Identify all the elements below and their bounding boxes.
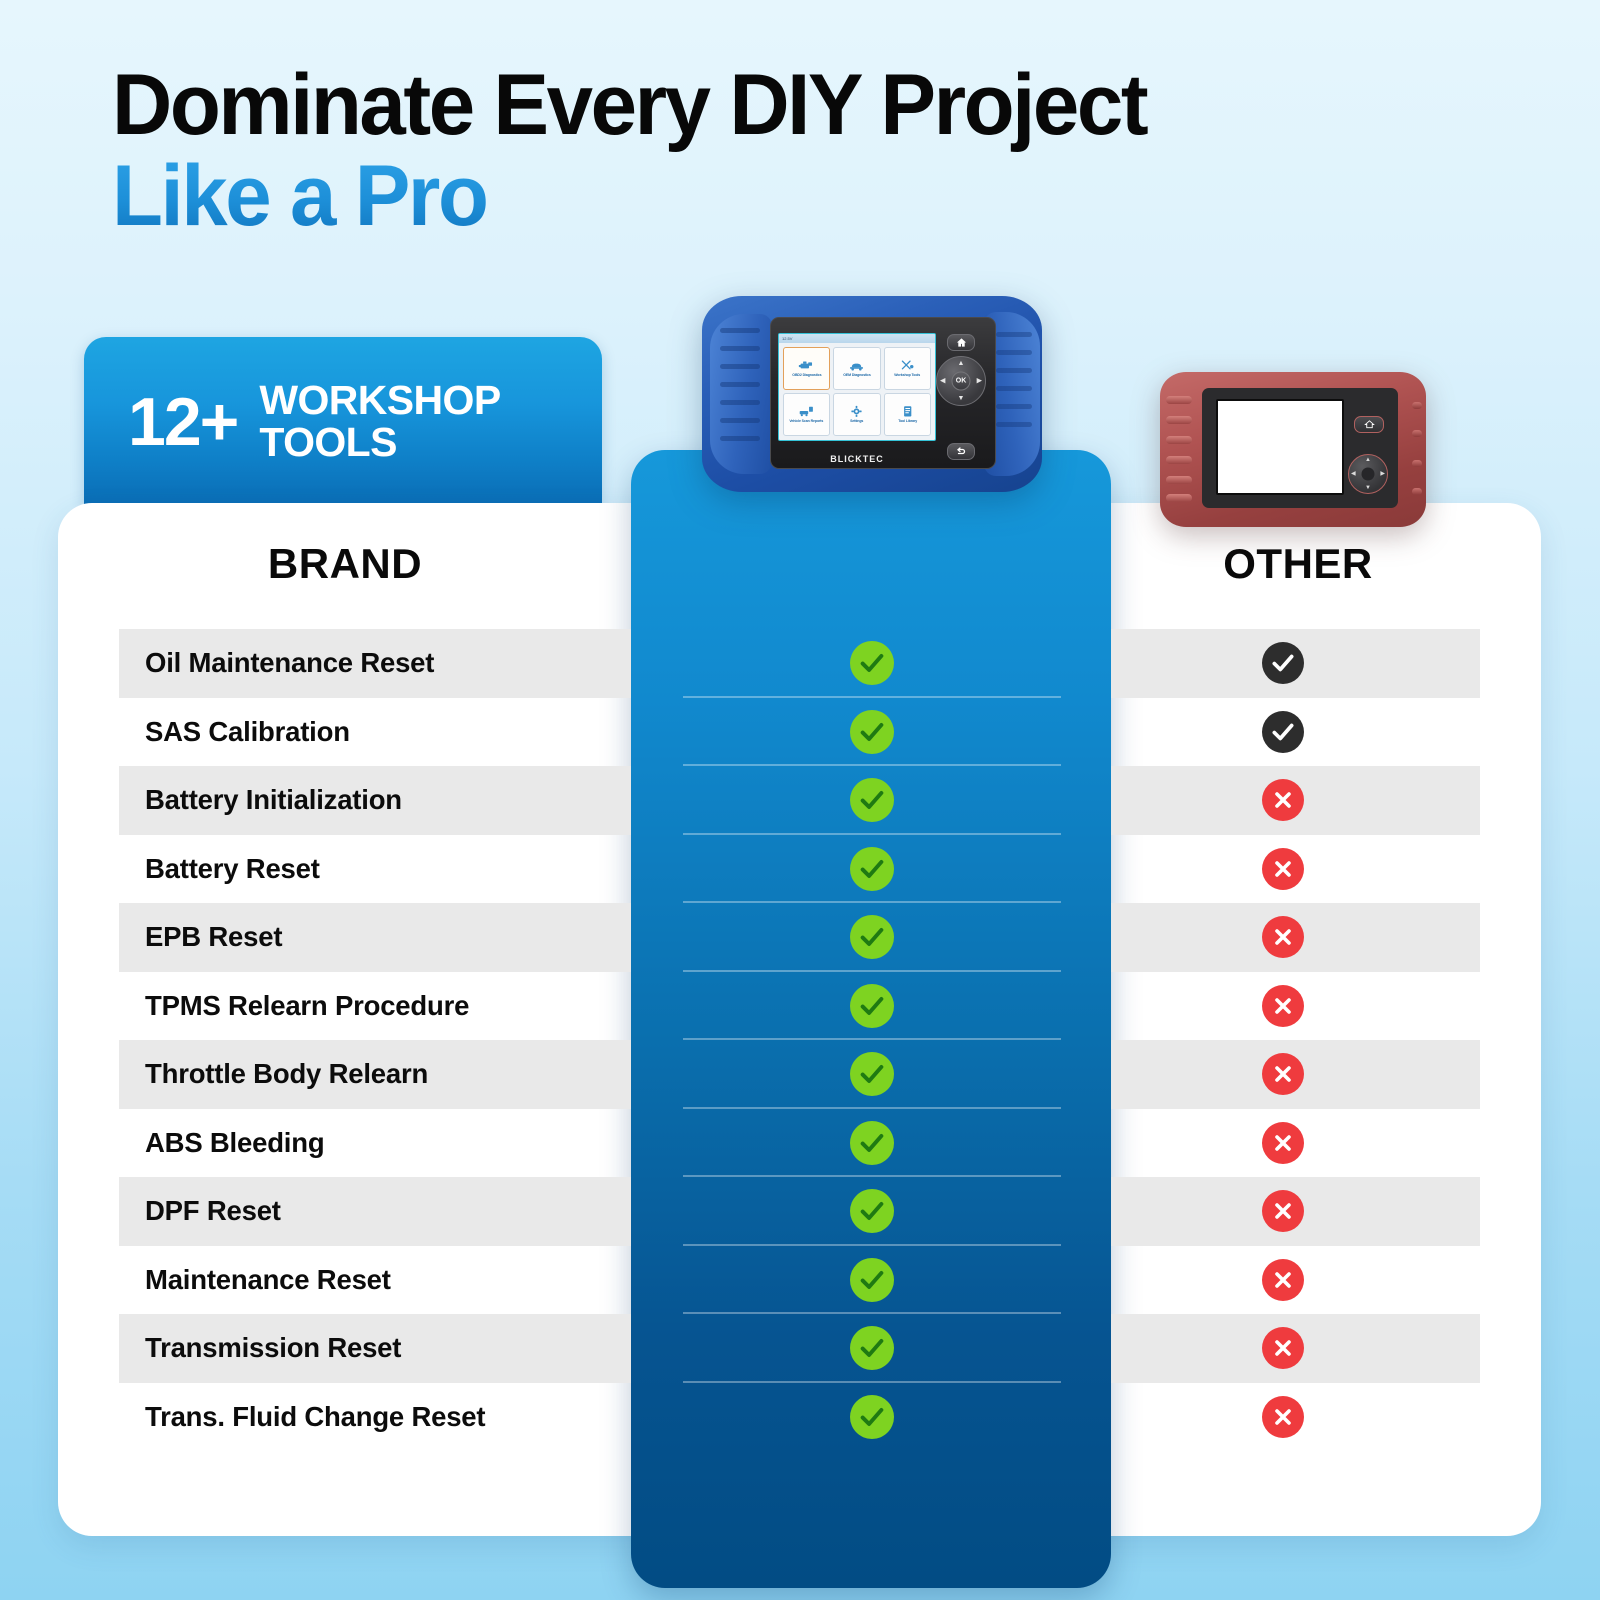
brand-check-icon bbox=[850, 710, 894, 754]
row-divider bbox=[683, 1381, 1061, 1383]
table-row: Throttle Body Relearn bbox=[0, 1040, 1600, 1109]
feature-label: ABS Bleeding bbox=[145, 1109, 324, 1178]
tablet-tile-label: Vehicle Scan Reports bbox=[790, 420, 824, 424]
back-icon[interactable] bbox=[947, 443, 975, 460]
feature-label: Battery Initialization bbox=[145, 766, 402, 835]
table-row: Trans. Fluid Change Reset bbox=[0, 1383, 1600, 1452]
dpad-icon[interactable]: ▲ ▼ ◀ ▶ OK bbox=[936, 356, 986, 406]
table-row: EPB Reset bbox=[0, 903, 1600, 972]
tablet-tile-gear[interactable]: Settings bbox=[833, 393, 880, 436]
tablet-brand-mark: BLICKTEC bbox=[778, 454, 936, 464]
table-row: Maintenance Reset bbox=[0, 1246, 1600, 1315]
brand-check-icon bbox=[850, 1326, 894, 1370]
table-row: Battery Reset bbox=[0, 835, 1600, 904]
page-headline: Dominate Every DIY Project Like a Pro bbox=[112, 62, 1472, 244]
row-divider bbox=[683, 970, 1061, 972]
feature-label: Trans. Fluid Change Reset bbox=[145, 1383, 485, 1452]
scan-report-icon bbox=[798, 405, 815, 418]
tools-icon bbox=[899, 359, 916, 372]
other-cross-icon bbox=[1262, 1259, 1304, 1301]
feature-label: Throttle Body Relearn bbox=[145, 1040, 428, 1109]
table-row: Battery Initialization bbox=[0, 766, 1600, 835]
tablet-tile-label: Settings bbox=[850, 420, 863, 424]
other-device-left-grip bbox=[1166, 390, 1192, 508]
car-icon bbox=[848, 359, 865, 372]
row-divider bbox=[683, 1107, 1061, 1109]
feature-label: SAS Calibration bbox=[145, 698, 350, 767]
dpad-up-icon[interactable]: ▲ bbox=[1365, 457, 1371, 463]
home-icon[interactable] bbox=[947, 334, 975, 351]
tablet-tile-book[interactable]: Tool Library bbox=[884, 393, 931, 436]
other-cross-icon bbox=[1262, 1327, 1304, 1369]
tablet-tile-car[interactable]: OEM Diagnostics bbox=[833, 347, 880, 390]
engine-icon bbox=[798, 359, 815, 372]
other-cross-icon bbox=[1262, 1190, 1304, 1232]
status-bar-voltage: 12.5V bbox=[782, 336, 792, 341]
feature-label: Transmission Reset bbox=[145, 1314, 401, 1383]
badge-label-line-1: WORKSHOP bbox=[259, 380, 500, 422]
other-device: ▲ ▼ ◀ ▶ bbox=[1160, 372, 1426, 527]
other-cross-icon bbox=[1262, 1396, 1304, 1438]
tablet-tile-label: Tool Library bbox=[898, 420, 917, 424]
row-divider bbox=[683, 764, 1061, 766]
badge-count: 12+ bbox=[128, 388, 237, 456]
tablet-home-tiles: OBD2 DiagnosticsOEM DiagnosticsWorkshop … bbox=[779, 343, 935, 440]
brand-check-icon bbox=[850, 915, 894, 959]
row-divider bbox=[683, 1175, 1061, 1177]
dpad-right-icon[interactable]: ▶ bbox=[1380, 471, 1385, 477]
other-check-icon bbox=[1262, 711, 1304, 753]
tablet-front-panel: 460T 12.5V OBD2 DiagnosticsOEM Diagnosti… bbox=[770, 317, 996, 469]
other-cross-icon bbox=[1262, 779, 1304, 821]
tablet-tile-label: OBD2 Diagnostics bbox=[792, 374, 821, 378]
feature-label: Maintenance Reset bbox=[145, 1246, 391, 1315]
feature-label: DPF Reset bbox=[145, 1177, 281, 1246]
gear-icon bbox=[848, 405, 865, 418]
dpad-down-icon[interactable]: ▼ bbox=[958, 395, 965, 402]
feature-label: EPB Reset bbox=[145, 903, 282, 972]
dpad-down-icon[interactable]: ▼ bbox=[1365, 485, 1371, 491]
tablet-tile-engine[interactable]: OBD2 Diagnostics bbox=[783, 347, 830, 390]
headline-line-2: Like a Pro bbox=[112, 148, 1431, 244]
other-device-right-grip bbox=[1412, 398, 1422, 502]
dpad-icon[interactable]: ▲ ▼ ◀ ▶ bbox=[1348, 454, 1388, 494]
tablet-tile-scan-report[interactable]: Vehicle Scan Reports bbox=[783, 393, 830, 436]
tablet-tile-label: OEM Diagnostics bbox=[843, 374, 871, 378]
badge-label-line-2: TOOLS bbox=[259, 422, 500, 464]
brand-check-icon bbox=[850, 847, 894, 891]
tablet-left-grip bbox=[710, 314, 772, 474]
row-divider bbox=[683, 696, 1061, 698]
other-cross-icon bbox=[1262, 848, 1304, 890]
other-cross-icon bbox=[1262, 1122, 1304, 1164]
brand-check-icon bbox=[850, 1189, 894, 1233]
dpad-right-icon[interactable]: ▶ bbox=[977, 378, 982, 385]
table-row: TPMS Relearn Procedure bbox=[0, 972, 1600, 1041]
other-check-icon bbox=[1262, 642, 1304, 684]
dpad-left-icon[interactable]: ◀ bbox=[940, 378, 945, 385]
row-divider bbox=[683, 833, 1061, 835]
feature-label: Oil Maintenance Reset bbox=[145, 629, 434, 698]
feature-label: Battery Reset bbox=[145, 835, 320, 904]
row-divider bbox=[683, 1244, 1061, 1246]
tablet-status-bar: 12.5V bbox=[779, 334, 935, 343]
dpad-up-icon[interactable]: ▲ bbox=[958, 360, 965, 367]
home-icon[interactable] bbox=[1354, 416, 1384, 433]
brand-check-icon bbox=[850, 1121, 894, 1165]
brand-check-icon bbox=[850, 1395, 894, 1439]
table-row: ABS Bleeding bbox=[0, 1109, 1600, 1178]
tablet-tile-tools[interactable]: Workshop Tools bbox=[884, 347, 931, 390]
other-cross-icon bbox=[1262, 916, 1304, 958]
row-divider bbox=[683, 1312, 1061, 1314]
tablet-screen[interactable]: 12.5V OBD2 DiagnosticsOEM DiagnosticsWor… bbox=[778, 333, 936, 441]
table-row: SAS Calibration bbox=[0, 698, 1600, 767]
book-icon bbox=[899, 405, 916, 418]
dpad-left-icon[interactable]: ◀ bbox=[1351, 471, 1356, 477]
column-header-brand: BRAND bbox=[120, 540, 570, 588]
ok-button[interactable]: OK bbox=[952, 372, 971, 391]
table-row: Oil Maintenance Reset bbox=[0, 629, 1600, 698]
brand-check-icon bbox=[850, 984, 894, 1028]
brand-check-icon bbox=[850, 1052, 894, 1096]
other-cross-icon bbox=[1262, 1053, 1304, 1095]
other-device-front-panel: ▲ ▼ ◀ ▶ bbox=[1202, 388, 1398, 508]
tablet-tile-label: Workshop Tools bbox=[894, 374, 920, 378]
column-header-other: OTHER bbox=[1118, 540, 1478, 588]
workshop-tools-badge: 12+ WORKSHOP TOOLS bbox=[84, 337, 602, 507]
comparison-rows: Oil Maintenance ResetSAS CalibrationBatt… bbox=[0, 629, 1600, 1451]
headline-line-1: Dominate Every DIY Project bbox=[112, 62, 1431, 148]
other-cross-icon bbox=[1262, 985, 1304, 1027]
table-row: Transmission Reset bbox=[0, 1314, 1600, 1383]
brand-check-icon bbox=[850, 1258, 894, 1302]
brand-check-icon bbox=[850, 778, 894, 822]
dpad-center[interactable] bbox=[1362, 468, 1375, 481]
feature-label: TPMS Relearn Procedure bbox=[145, 972, 469, 1041]
row-divider bbox=[683, 901, 1061, 903]
brand-check-icon bbox=[850, 641, 894, 685]
brand-tablet-device: 460T 12.5V OBD2 DiagnosticsOEM Diagnosti… bbox=[702, 296, 1042, 492]
row-divider bbox=[683, 1038, 1061, 1040]
table-row: DPF Reset bbox=[0, 1177, 1600, 1246]
tablet-keypad: ▲ ▼ ◀ ▶ OK bbox=[933, 334, 989, 460]
badge-label: WORKSHOP TOOLS bbox=[259, 380, 500, 464]
other-device-screen[interactable] bbox=[1216, 399, 1344, 495]
